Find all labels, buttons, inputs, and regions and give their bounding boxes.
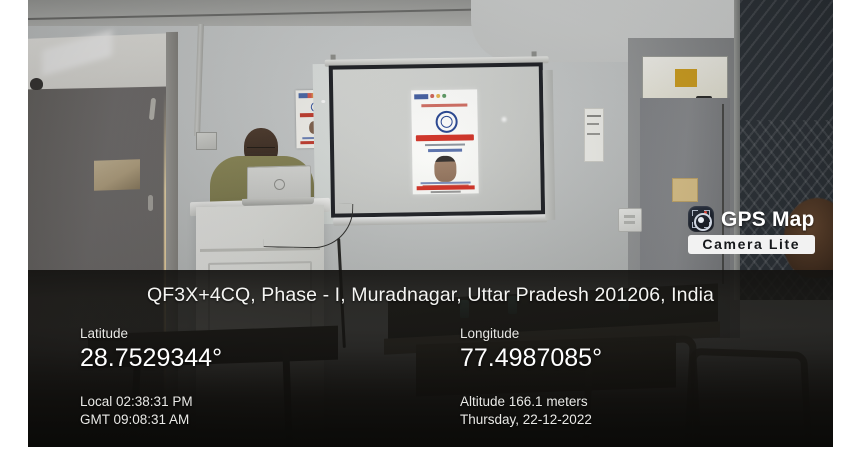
camera-icon-lens-center: [698, 217, 704, 223]
wall-junction-box: [196, 132, 217, 150]
logo-dot-green: [442, 94, 446, 98]
letterbox-left: [0, 0, 28, 450]
altitude-date-block: Altitude 166.1 meters Thursday, 22-12-20…: [460, 393, 840, 429]
projected-poster: [411, 89, 479, 194]
wall-notice: [584, 108, 604, 162]
screen-surface: [333, 66, 541, 213]
presenter-glasses: [247, 147, 275, 154]
latitude-value: 28.7529344°: [80, 345, 460, 371]
light-switch-rocker-1[interactable]: [624, 215, 635, 218]
logo-dot-red: [430, 94, 434, 98]
screen-glare: [502, 117, 507, 122]
projected-poster-logos: [414, 92, 474, 99]
poster-seal: [435, 111, 457, 133]
screenshot-root: GPS Map Camera Lite QF3X+4CQ, Phase - I,…: [0, 0, 861, 450]
longitude-block: Longitude 77.4987085°: [460, 327, 840, 372]
longitude-value: 77.4987085°: [460, 345, 840, 371]
gps-info-overlay: QF3X+4CQ, Phase - I, Muradnagar, Uttar P…: [28, 270, 833, 447]
poster-footer-bar: [417, 185, 475, 190]
watermark-edition-badge: Camera Lite: [688, 235, 815, 254]
watermark-title-row: GPS Map: [688, 206, 815, 232]
institution-logo: [414, 94, 428, 99]
wall-mounted-object: [30, 78, 43, 90]
poster-subheading-3: [428, 149, 462, 153]
light-switch-rocker-2[interactable]: [624, 221, 635, 224]
laptop-logo: [274, 179, 285, 190]
right-transom-window: [642, 56, 728, 100]
notice-line-3: [587, 133, 600, 135]
longitude-label: Longitude: [460, 327, 840, 341]
metadata-row: Local 02:38:31 PM GMT 09:08:31 AM Altitu…: [46, 393, 815, 429]
location-address: QF3X+4CQ, Phase - I, Muradnagar, Uttar P…: [46, 270, 815, 306]
poster-portrait: [434, 156, 456, 182]
poster-seal-inner: [441, 116, 453, 128]
right-door-notice: [672, 178, 698, 202]
gmt-time: GMT 09:08:31 AM: [80, 411, 460, 429]
time-block: Local 02:38:31 PM GMT 09:08:31 AM: [80, 393, 460, 429]
gps-map-camera-watermark: GPS Map Camera Lite: [684, 204, 819, 258]
notice-line-2: [587, 123, 599, 125]
left-door-latch: [148, 195, 153, 211]
poster-subheading-2: [425, 144, 465, 147]
left-door-vision-panel: [94, 159, 140, 191]
camera-lens-icon: [688, 206, 714, 232]
poster-text-line-1: [431, 191, 461, 193]
letterbox-right: [833, 0, 861, 450]
logo-dot-yellow: [436, 94, 440, 98]
watermark-app-title: GPS Map: [721, 209, 815, 230]
poster-title-bar: [416, 134, 474, 141]
notice-line-1: [587, 115, 601, 117]
projector-screen: [321, 56, 552, 235]
transom-yellow-sign: [675, 69, 697, 87]
capture-date: Thursday, 22-12-2022: [460, 411, 840, 429]
coordinates-row: Latitude 28.7529344° Longitude 77.498708…: [46, 327, 815, 372]
latitude-label: Latitude: [80, 327, 460, 341]
altitude-value: Altitude 166.1 meters: [460, 393, 840, 411]
local-time: Local 02:38:31 PM: [80, 393, 460, 411]
latitude-block: Latitude 28.7529344°: [80, 327, 460, 372]
poster-subheading-1: [421, 104, 467, 108]
light-switch-plate[interactable]: [618, 208, 642, 232]
